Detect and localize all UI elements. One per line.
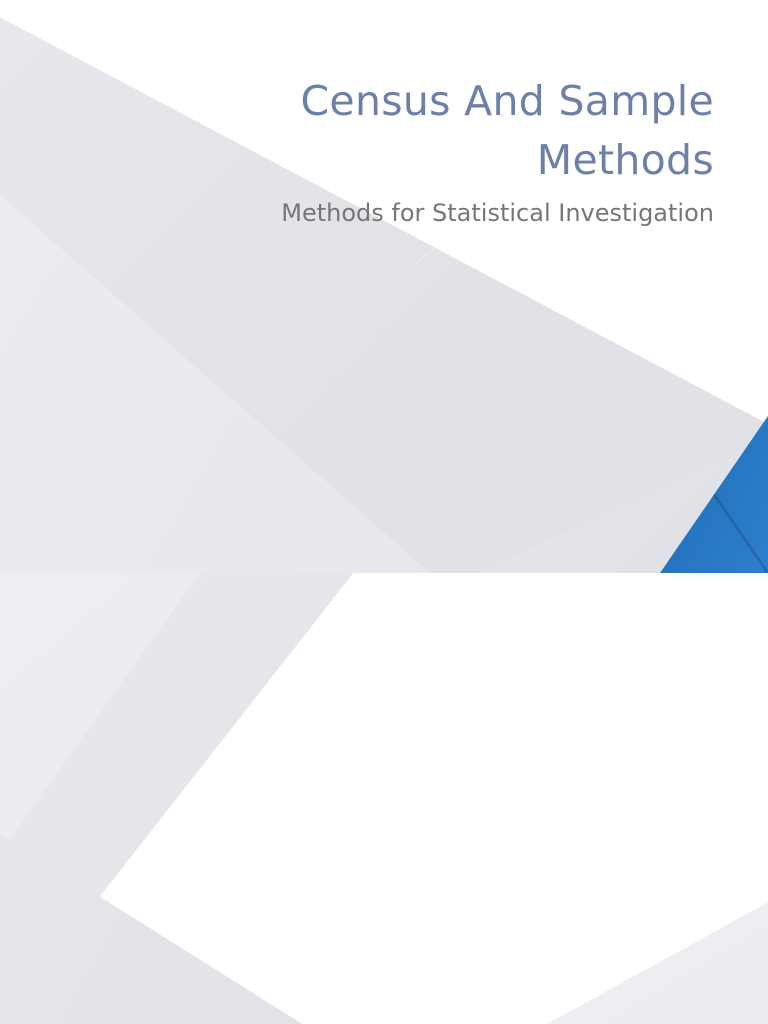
grey-bottom-right-wedge-icon: [528, 879, 768, 1024]
grey-bottom-left-wedge-icon: [0, 834, 420, 1024]
grey-crease-line-icon: [330, 420, 768, 573]
title-slide[interactable]: Census And Sample Methods Methods for St…: [0, 0, 768, 573]
grey-right-band-icon: [478, 415, 768, 573]
grey-diagonal-wedge-icon: [0, 573, 768, 1024]
grey-crease-line-icon: [528, 879, 768, 1024]
page-title: Census And Sample Methods: [200, 72, 714, 190]
grey-soft-wedge-icon: [0, 573, 768, 1024]
introduction-slide[interactable]: INTRODUCTION In all the spheres of life …: [0, 573, 768, 1024]
slide-deck-page: Census And Sample Methods Methods for St…: [0, 0, 768, 1024]
blue-triangle-shadow-edge-icon: [660, 416, 768, 573]
white-fold-hairline-icon: [0, 573, 768, 1024]
page-subtitle: Methods for Statistical Investigation: [100, 196, 714, 230]
introduction-slide-background: [0, 573, 768, 1024]
blue-accent-triangle-icon: [660, 416, 768, 573]
